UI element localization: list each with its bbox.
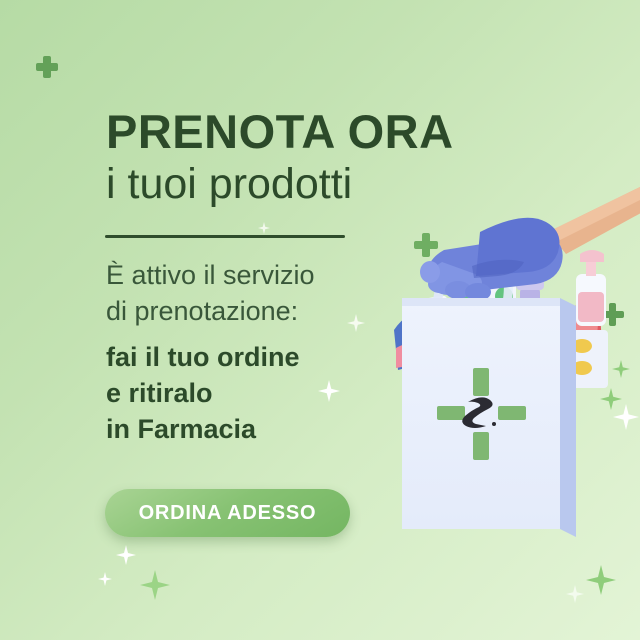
shopping-bag-icon [402,298,576,537]
headline-divider [105,235,345,238]
headline-secondary: i tuoi prodotti [106,163,352,206]
sparkle-green-bottom-right-icon [586,565,616,595]
pharmacy-bag-illustration [380,180,640,560]
headline-primary: PRENOTA ORA [106,108,454,155]
body-emphasis-text: fai il tuo ordine e ritiralo in Farmacia [106,340,300,448]
order-now-button[interactable]: ORDINA ADESSO [105,489,350,537]
pharmacy-promo-poster: PRENOTA ORA i tuoi prodotti È attivo il … [0,0,640,640]
text-column: PRENOTA ORA i tuoi prodotti È attivo il … [0,0,400,640]
body-intro-text: È attivo il servizio di prenotazione: [106,258,315,329]
sparkle-white-bottom-right-icon [566,585,584,603]
